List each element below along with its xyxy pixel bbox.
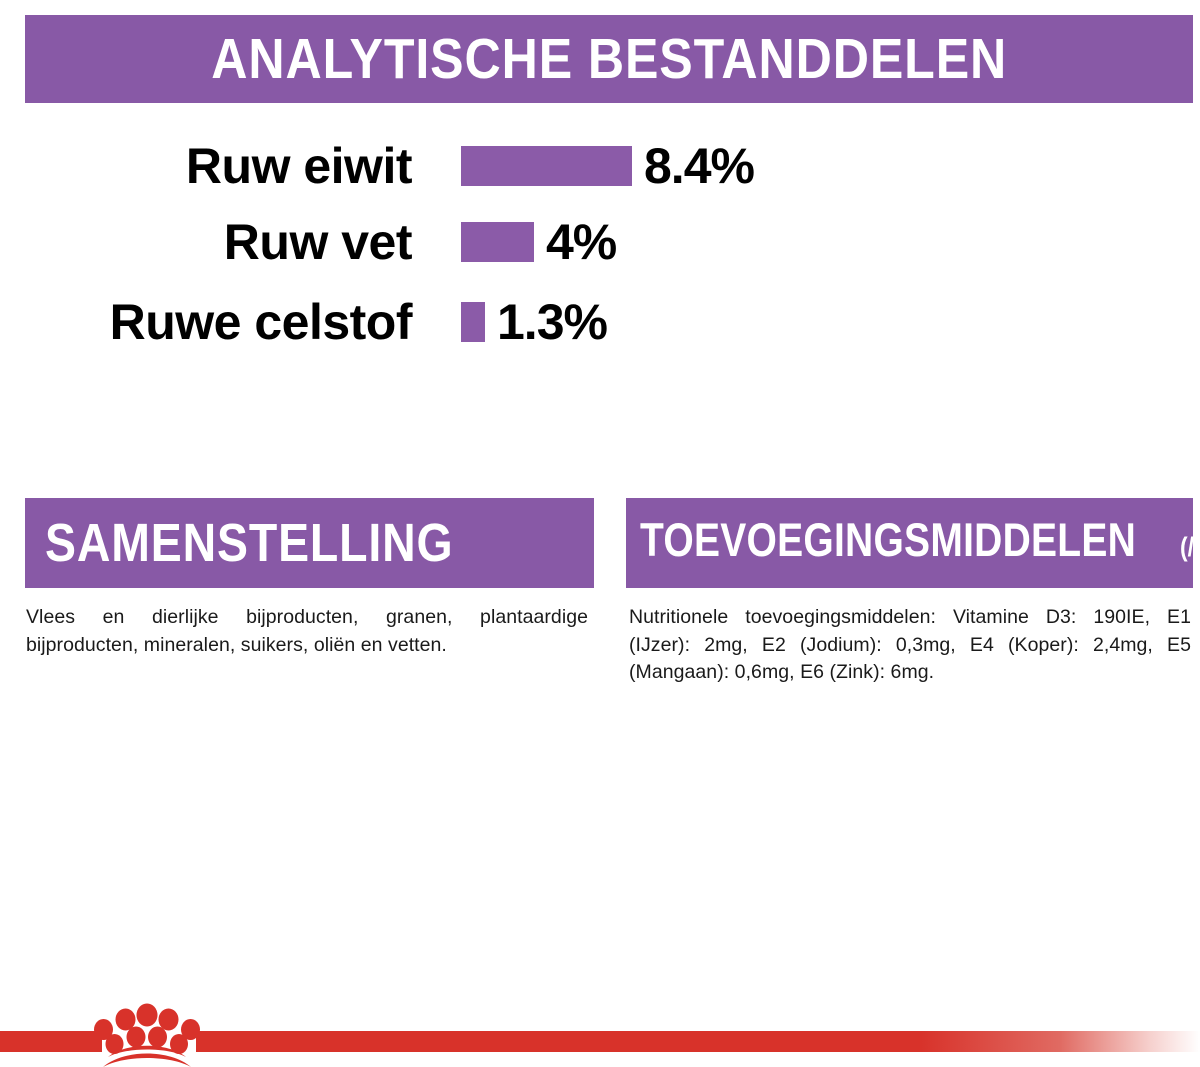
analysis-row-ruwe-celstof: Ruwe celstof 1.3% xyxy=(0,284,1200,360)
analysis-row-ruw-vet: Ruw vet 4% xyxy=(0,204,1200,280)
analysis-label: Ruwe celstof xyxy=(0,297,412,347)
analysis-label: Ruw vet xyxy=(0,217,412,267)
additives-unit-label: (/kg) xyxy=(1180,534,1200,561)
analysis-bar-wrap: 4% xyxy=(461,217,616,267)
analysis-bar xyxy=(461,146,632,186)
analysis-bar-wrap: 8.4% xyxy=(461,141,754,191)
additives-title: TOEVOEGINGSMIDDELEN xyxy=(640,516,1136,563)
analytical-constituents-chart: Ruw eiwit 8.4% Ruw vet 4% Ruwe celstof 1… xyxy=(0,128,1200,368)
page-title: ANALYTISCHE BESTANDDELEN xyxy=(211,31,1007,88)
additives-text: Nutritionele toevoegingsmiddelen: Vitami… xyxy=(629,604,1191,687)
analysis-bar-wrap: 1.3% xyxy=(461,297,607,347)
analysis-bar xyxy=(461,302,485,342)
composition-title: SAMENSTELLING xyxy=(45,516,454,570)
additives-header-banner: TOEVOEGINGSMIDDELEN (/kg) xyxy=(626,498,1193,588)
analysis-value: 4% xyxy=(546,217,616,267)
analysis-row-ruw-eiwit: Ruw eiwit 8.4% xyxy=(0,128,1200,204)
analysis-bar xyxy=(461,222,534,262)
composition-header-banner: SAMENSTELLING xyxy=(25,498,594,588)
analytical-constituents-header-banner: ANALYTISCHE BESTANDDELEN xyxy=(25,15,1193,103)
composition-text: Vlees en dierlijke bijproducten, granen,… xyxy=(26,604,588,659)
footer-rule-right xyxy=(196,1031,1200,1052)
analysis-value: 8.4% xyxy=(644,141,754,191)
royal-canin-crown-icon xyxy=(86,1001,208,1067)
analysis-value: 1.3% xyxy=(497,297,607,347)
analysis-label: Ruw eiwit xyxy=(0,141,412,191)
